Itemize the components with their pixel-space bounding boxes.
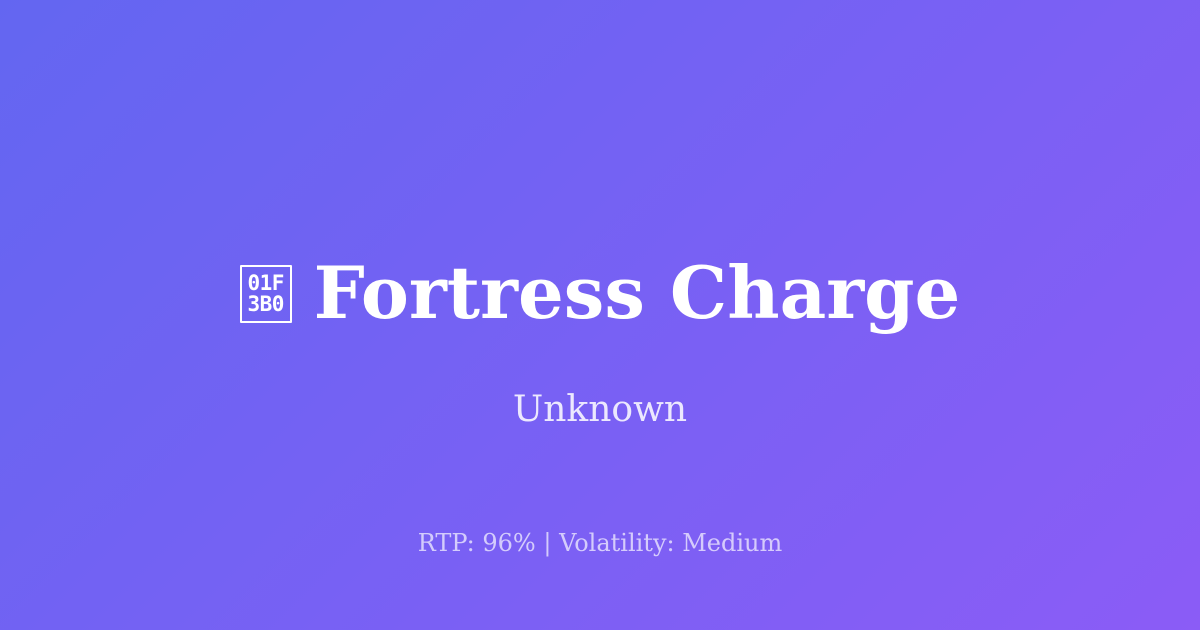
game-meta-line: RTP: 96% | Volatility: Medium: [418, 529, 783, 558]
slot-machine-icon-codepoint-bottom: 3B0: [247, 294, 283, 316]
game-title-text: Fortress Charge: [314, 255, 961, 331]
hero-block: 01F 3B0 Fortress Charge Unknown: [0, 255, 1200, 432]
slot-machine-icon-codepoint-top: 01F: [247, 273, 283, 295]
slot-machine-icon: 01F 3B0: [240, 265, 292, 323]
game-subtitle: Unknown: [513, 330, 687, 431]
page-title: 01F 3B0 Fortress Charge: [240, 255, 961, 331]
card-footer: RTP: 96% | Volatility: Medium: [0, 529, 1200, 558]
game-preview-card: 01F 3B0 Fortress Charge Unknown RTP: 96%…: [0, 0, 1200, 630]
